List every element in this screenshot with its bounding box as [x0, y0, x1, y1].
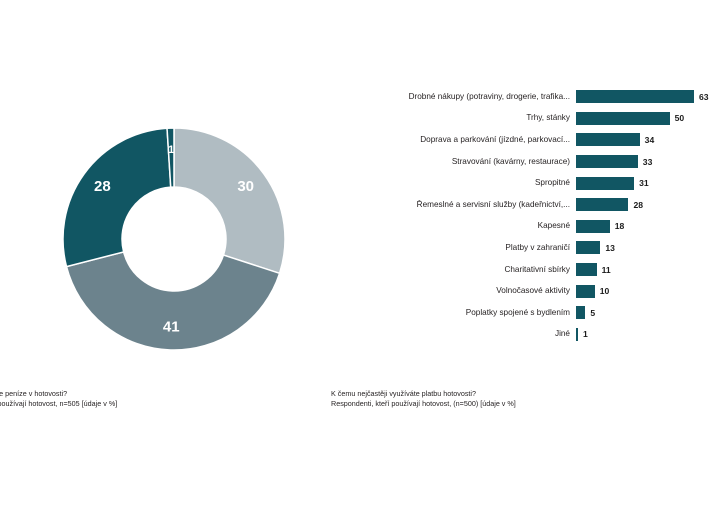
bar-category-label: Doprava a parkování (jízdné, parkovací..… [340, 135, 576, 145]
bar-track: 13 [576, 237, 720, 259]
donut-segment-30[interactable] [174, 128, 285, 273]
bar-track: 31 [576, 172, 720, 194]
bar-row[interactable]: Doprava a parkování (jízdné, parkovací..… [340, 129, 720, 151]
donut-value-label: 1 [168, 144, 174, 156]
donut-value-label: 28 [94, 178, 111, 195]
bar-category-label: Drobné nákupy (potraviny, drogerie, traf… [340, 92, 576, 102]
bar-row[interactable]: Stravování (kavárny, restaurace)33 [340, 151, 720, 173]
bar-category-label: Jiné [340, 329, 576, 339]
bar-track: 11 [576, 259, 720, 281]
bar-value-label: 63 [699, 92, 709, 102]
bar-fill[interactable] [576, 133, 640, 146]
bar-track: 18 [576, 216, 720, 238]
bar-caption-line-1: K čemu nejčastěji využíváte platbu hotov… [331, 389, 516, 399]
bar-fill[interactable] [576, 263, 597, 276]
donut-chart: 3041281 [0, 0, 320, 380]
bar-row[interactable]: Řemeslné a servisní služby (kadeřnictví,… [340, 194, 720, 216]
donut-caption-line-1: e používáte peníze v hotovosti? [0, 389, 117, 399]
bar-row[interactable]: Jiné1 [340, 324, 720, 346]
bar-track: 1 [576, 324, 720, 346]
bar-category-label: Poplatky spojené s bydlením [340, 308, 576, 318]
bar-caption-line-2: Respondenti, kteří používají hotovost, (… [331, 399, 516, 409]
bar-value-label: 34 [645, 135, 655, 145]
donut-segment-28[interactable] [63, 128, 171, 266]
bar-fill[interactable] [576, 155, 638, 168]
donut-caption-line-2: enti, kteří používají hotovost, n=505 [ú… [0, 399, 117, 409]
bar-chart-panel: Drobné nákupy (potraviny, drogerie, traf… [340, 86, 720, 366]
bar-value-label: 31 [639, 178, 649, 188]
bar-row[interactable]: Kapesné18 [340, 216, 720, 238]
bar-value-label: 10 [600, 286, 610, 296]
bar-track: 5 [576, 302, 720, 324]
donut-chart-panel: 3041281 [0, 0, 320, 380]
bar-row[interactable]: Volnočasové aktivity10 [340, 280, 720, 302]
bar-category-label: Trhy, stánky [340, 113, 576, 123]
bar-fill[interactable] [576, 328, 578, 341]
bar-row[interactable]: Poplatky spojené s bydlením5 [340, 302, 720, 324]
bar-track: 28 [576, 194, 720, 216]
bar-row[interactable]: Platby v zahraničí13 [340, 237, 720, 259]
bar-fill[interactable] [576, 198, 628, 211]
bar-row[interactable]: Spropitné31 [340, 172, 720, 194]
bar-row[interactable]: Trhy, stánky50 [340, 108, 720, 130]
bar-value-label: 5 [590, 308, 595, 318]
bar-fill[interactable] [576, 241, 600, 254]
bar-track: 50 [576, 108, 720, 130]
bar-category-label: Volnočasové aktivity [340, 286, 576, 296]
bar-value-label: 1 [583, 329, 588, 339]
bar-chart-caption: K čemu nejčastěji využíváte platbu hotov… [331, 389, 516, 409]
bar-value-label: 28 [633, 200, 643, 210]
bar-value-label: 18 [615, 221, 625, 231]
bar-track: 34 [576, 129, 720, 151]
bar-row[interactable]: Drobné nákupy (potraviny, drogerie, traf… [340, 86, 720, 108]
bar-fill[interactable] [576, 285, 595, 298]
bar-category-label: Stravování (kavárny, restaurace) [340, 157, 576, 167]
bar-track: 10 [576, 280, 720, 302]
bar-value-label: 13 [605, 243, 615, 253]
bar-value-label: 11 [602, 265, 611, 275]
bar-fill[interactable] [576, 177, 634, 190]
bar-fill[interactable] [576, 220, 610, 233]
bar-value-label: 33 [643, 157, 653, 167]
donut-chart-caption: e používáte peníze v hotovosti? enti, kt… [0, 389, 117, 409]
bar-category-label: Řemeslné a servisní služby (kadeřnictví,… [340, 200, 576, 210]
bar-row[interactable]: Charitativní sbírky11 [340, 259, 720, 281]
bar-category-label: Platby v zahraničí [340, 243, 576, 253]
bar-value-label: 50 [675, 113, 685, 123]
donut-value-label: 41 [163, 319, 180, 336]
donut-value-label: 30 [237, 178, 254, 195]
bar-fill[interactable] [576, 90, 694, 103]
bar-fill[interactable] [576, 306, 585, 319]
bar-fill[interactable] [576, 112, 670, 125]
bar-track: 63 [576, 86, 720, 108]
bar-category-label: Charitativní sbírky [340, 265, 576, 275]
bar-track: 33 [576, 151, 720, 173]
bar-category-label: Kapesné [340, 221, 576, 231]
bar-category-label: Spropitné [340, 178, 576, 188]
